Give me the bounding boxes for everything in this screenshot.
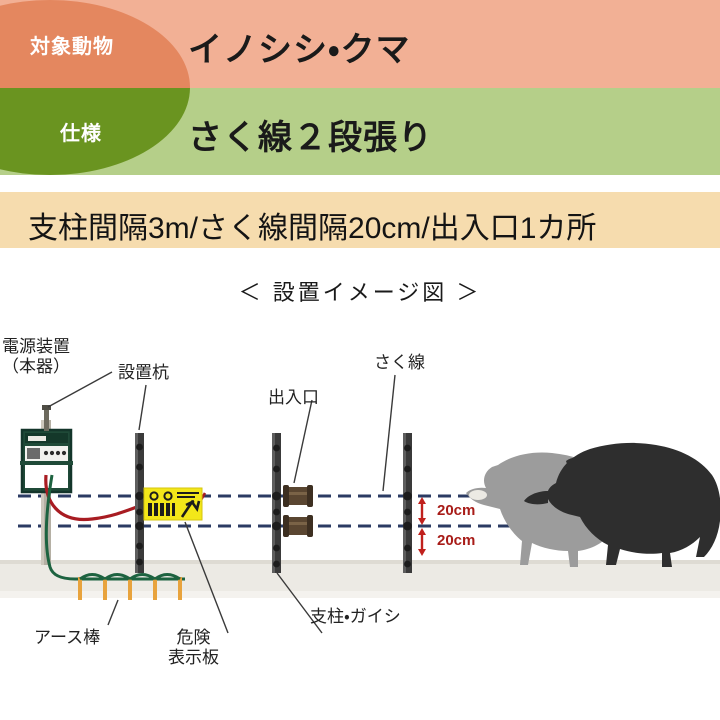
measure-label-lower: 20cm bbox=[437, 532, 475, 549]
gate-post-left bbox=[272, 433, 281, 573]
gate-insulator-lower bbox=[283, 515, 313, 537]
label-earth-rod: アース棒 bbox=[34, 628, 100, 648]
label-power-unit: 電源装置 （本器） bbox=[2, 337, 70, 376]
leader-fence-wire bbox=[383, 375, 395, 491]
warning-sign bbox=[144, 488, 202, 520]
leader-power-unit bbox=[48, 372, 112, 407]
measure-label-upper: 20cm bbox=[437, 502, 475, 519]
leader-install-stake bbox=[139, 385, 146, 430]
header-value-spec: さく線２段張り bbox=[188, 110, 433, 159]
label-post-insulator: 支柱・ガイシ bbox=[310, 607, 401, 627]
fence-post-right bbox=[403, 433, 412, 573]
badge-label-spec: 仕様 bbox=[60, 117, 102, 146]
label-gate: 出入口 bbox=[268, 388, 319, 408]
badge-label-animal: 対象動物 bbox=[30, 30, 114, 59]
leader-gate bbox=[294, 400, 312, 483]
header-value-animal: イノシシ・クマ bbox=[188, 22, 411, 71]
installation-diagram: 電源装置 （本器） 設置杭 出入口 さく線 アース棒 危険 表示板 支柱・ガイシ… bbox=[0, 315, 720, 720]
measure-arrow-lower bbox=[418, 528, 426, 556]
diagram-title: ＜ 設置イメージ図 ＞ bbox=[0, 275, 720, 307]
fence-post-sign bbox=[135, 433, 144, 573]
label-warning-sign: 危険 表示板 bbox=[168, 628, 219, 667]
diagram-svg bbox=[0, 315, 720, 720]
label-install-stake: 設置杭 bbox=[118, 363, 169, 383]
label-power-unit-line1: 電源装置 bbox=[2, 337, 70, 356]
label-power-unit-line2: （本器） bbox=[2, 357, 70, 376]
label-warning-sign-line2: 表示板 bbox=[168, 648, 219, 667]
gate-insulator-upper bbox=[283, 485, 313, 507]
label-warning-sign-line1: 危険 bbox=[177, 628, 211, 647]
header-note-text: 支柱間隔3m/さく線間隔20cm/出入口1カ所 bbox=[28, 203, 596, 247]
label-fence-wire: さく線 bbox=[374, 353, 425, 373]
leader-earth-rod bbox=[108, 600, 118, 625]
page-root: 対象動物 仕様 イノシシ・クマ さく線２段張り 支柱間隔3m/さく線間隔20cm… bbox=[0, 0, 720, 720]
measure-arrow-upper bbox=[418, 497, 426, 525]
